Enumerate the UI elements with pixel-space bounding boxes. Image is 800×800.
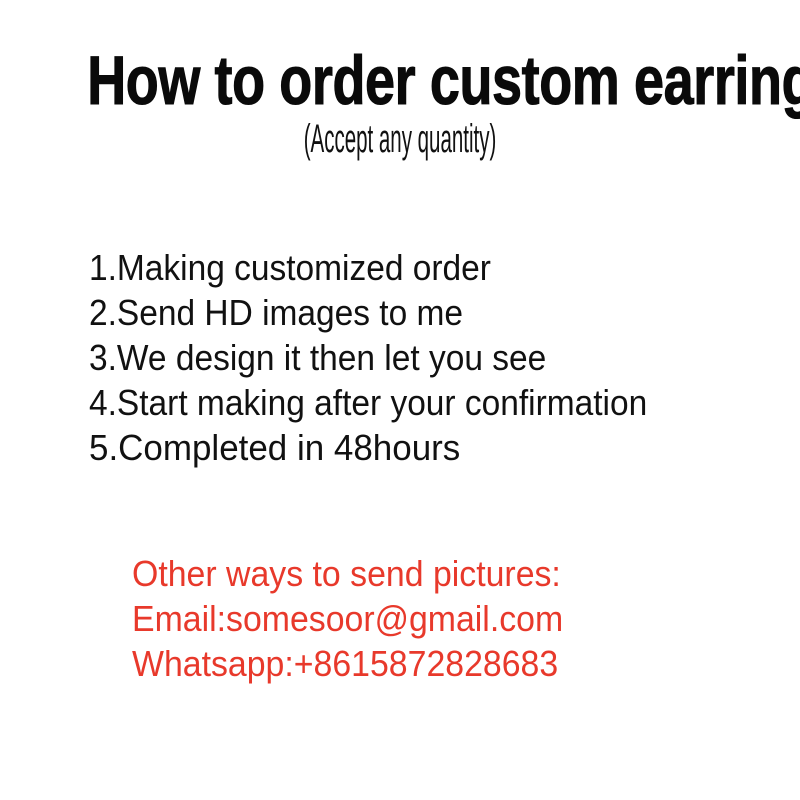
page-subtitle: (Accept any quantity) <box>195 118 605 160</box>
subtitle-block: (Accept any quantity) <box>0 118 800 160</box>
list-item: 2.Send HD images to me <box>89 290 647 335</box>
list-item: 5.Completed in 48hours <box>89 425 672 470</box>
contact-email[interactable]: Email:somesoor@gmail.com <box>132 596 563 641</box>
promo-banner: How to order custom earrings (Accept any… <box>0 0 800 800</box>
list-item: 3.We design it then let you see <box>89 335 647 380</box>
ordering-steps-list: 1.Making customized order 2.Send HD imag… <box>89 245 689 470</box>
list-item: 4.Start making after your confirmation <box>89 380 647 425</box>
title-block: How to order custom earrings <box>0 46 800 115</box>
page-title: How to order custom earrings <box>87 46 713 115</box>
contact-heading: Other ways to send pictures: <box>132 551 563 596</box>
contact-whatsapp[interactable]: Whatsapp:+8615872828683 <box>132 641 563 686</box>
list-item: 1.Making customized order <box>89 245 647 290</box>
contact-block: Other ways to send pictures: Email:somes… <box>132 551 591 686</box>
